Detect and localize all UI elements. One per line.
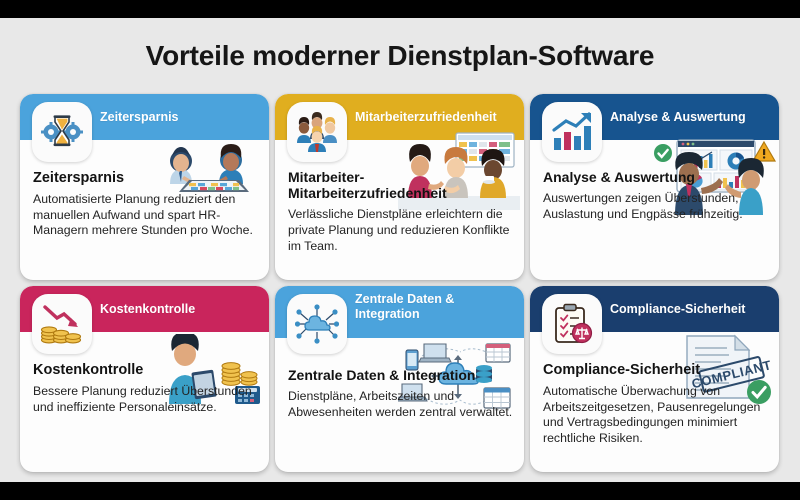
team-group-people-icon (287, 102, 347, 162)
card-header-label: Zentrale Daten & Integration (355, 292, 505, 322)
card-description: Bessere Planung reduziert Überstunden un… (33, 384, 258, 416)
card-header-label: Mitarbeiterzufriedenheit (355, 110, 497, 125)
card-title: Kostenkontrolle (33, 362, 258, 379)
letterbox-bottom (0, 482, 800, 500)
card-title: Analyse & Auswertung (543, 170, 768, 186)
card-header-label: Compliance-Sicherheit (610, 302, 745, 317)
page-title: Vorteile moderner Dienstplan-Software (0, 40, 800, 72)
card-header-label: Kostenkontrolle (100, 302, 195, 317)
card-title: Zeitersparnis (33, 170, 258, 187)
card-zentrale-daten-integration[interactable]: Zentrale Daten & Integration (275, 286, 524, 472)
card-header-label: Analyse & Auswertung (610, 110, 746, 125)
infographic-canvas: Vorteile moderner Dienstplan-Software Ze… (0, 18, 800, 482)
card-description: Verlässliche Dienstpläne erleichtern die… (288, 207, 513, 255)
clipboard-checklist-scales-icon (542, 294, 602, 354)
card-kostenkontrolle[interactable]: Kostenkontrolle (20, 286, 269, 472)
card-description: Automatisierte Planung reduziert den man… (33, 192, 258, 240)
card-mitarbeiterzufriedenheit[interactable]: Mitarbeiterzufriedenheit (275, 94, 524, 280)
card-body-analyse-auswertung: Analyse & Auswertung Auswertungen zeigen… (543, 170, 768, 223)
infographic-stage: Vorteile moderner Dienstplan-Software Ze… (0, 0, 800, 500)
card-description: Auswertungen zeigen Überstunden, Auslast… (543, 191, 768, 223)
card-body-mitarbeiterzufriedenheit: Mitarbeiter-Mitarbeiterzufriedenheit Ver… (288, 170, 513, 255)
coins-declining-arrow-icon (32, 294, 92, 354)
card-header-label: Zeitersparnis (100, 110, 179, 125)
card-compliance-sicherheit[interactable]: Compliance-Sicherheit (530, 286, 779, 472)
card-analyse-auswertung[interactable]: Analyse & Auswertung (530, 94, 779, 280)
card-body-kostenkontrolle: Kostenkontrolle Bessere Planung reduzier… (33, 362, 258, 415)
cloud-network-nodes-icon (287, 294, 347, 354)
benefit-card-grid: Zeitersparnis (20, 94, 780, 472)
letterbox-top (0, 0, 800, 18)
card-description: Dienstpläne, Arbeitszeiten und Abwesenhe… (288, 389, 513, 421)
card-body-compliance-sicherheit: Compliance-Sicherheit Automatische Überw… (543, 362, 768, 447)
bar-chart-growth-arrow-icon (542, 102, 602, 162)
hourglass-gears-icon (32, 102, 92, 162)
card-body-zeitersparnis: Zeitersparnis Automatisierte Planung red… (33, 170, 258, 239)
card-zeitersparnis[interactable]: Zeitersparnis (20, 94, 269, 280)
card-description: Automatische Überwachung von Arbeitszeit… (543, 384, 768, 448)
card-title: Zentrale Daten & Integration (288, 368, 513, 384)
card-body-zentrale-daten-integration: Zentrale Daten & Integration Dienstpläne… (288, 368, 513, 421)
card-title: Mitarbeiter-Mitarbeiterzufriedenheit (288, 170, 513, 202)
card-title: Compliance-Sicherheit (543, 362, 768, 379)
